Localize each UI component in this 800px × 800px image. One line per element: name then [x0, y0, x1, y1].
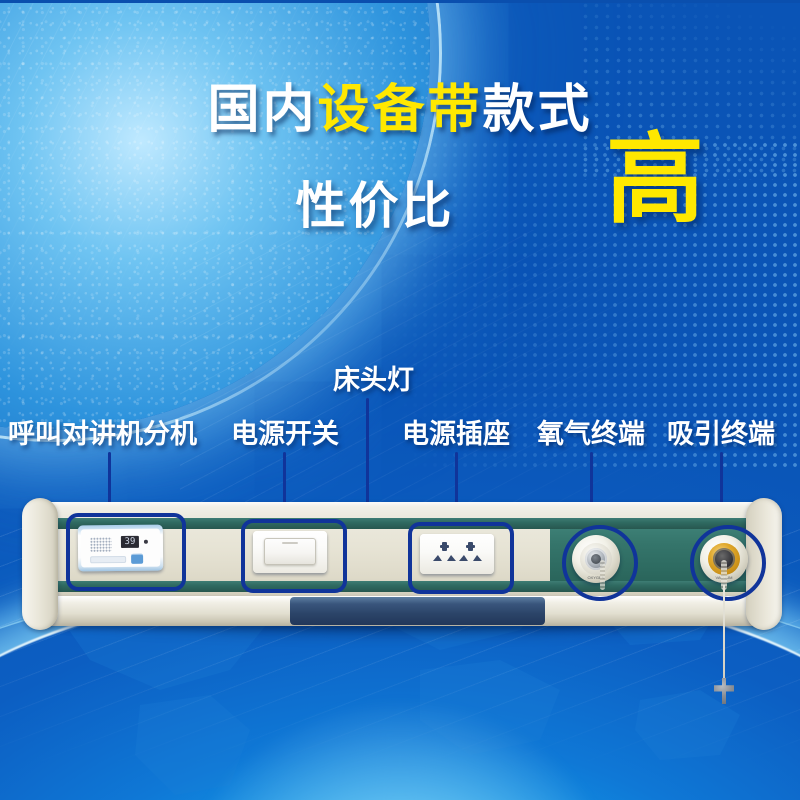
- highlight-box-intercom: [66, 513, 186, 591]
- headline-part-2-accent: 设备带: [317, 81, 482, 139]
- callout-label-power-switch: 电源开关: [231, 412, 339, 451]
- highlight-circle-suction: [690, 525, 766, 601]
- panel-end-cap-left: [22, 498, 58, 630]
- headline-subtext: 性价比: [296, 166, 455, 238]
- callout-label-power-socket: 电源插座: [402, 412, 510, 451]
- headline-accent-big: 高: [606, 130, 704, 228]
- pull-cord-line[interactable]: [723, 585, 725, 690]
- promo-banner-stage: 国内设备带款式 性价比 高 呼叫对讲机分机 电源开关 床头灯 电源插座 氧气终端…: [0, 0, 800, 800]
- callout-label-intercom: 呼叫对讲机分机: [8, 412, 197, 451]
- headline-part-3: 款式: [483, 81, 593, 139]
- headline-part-1: 国内: [207, 81, 317, 139]
- headline-block: 国内设备带款式 性价比 高: [0, 84, 800, 136]
- callout-label-oxygen: 氧气终端: [537, 412, 645, 451]
- top-edge-bar: [0, 0, 800, 3]
- highlight-box-power-switch: [241, 519, 347, 593]
- callout-label-bed-lamp: 床头灯: [333, 358, 414, 397]
- callout-label-suction: 吸引终端: [667, 412, 775, 451]
- cord-tie-left: [600, 560, 605, 590]
- highlight-box-power-socket: [408, 522, 514, 594]
- panel-rail-dark-segment: [290, 597, 545, 625]
